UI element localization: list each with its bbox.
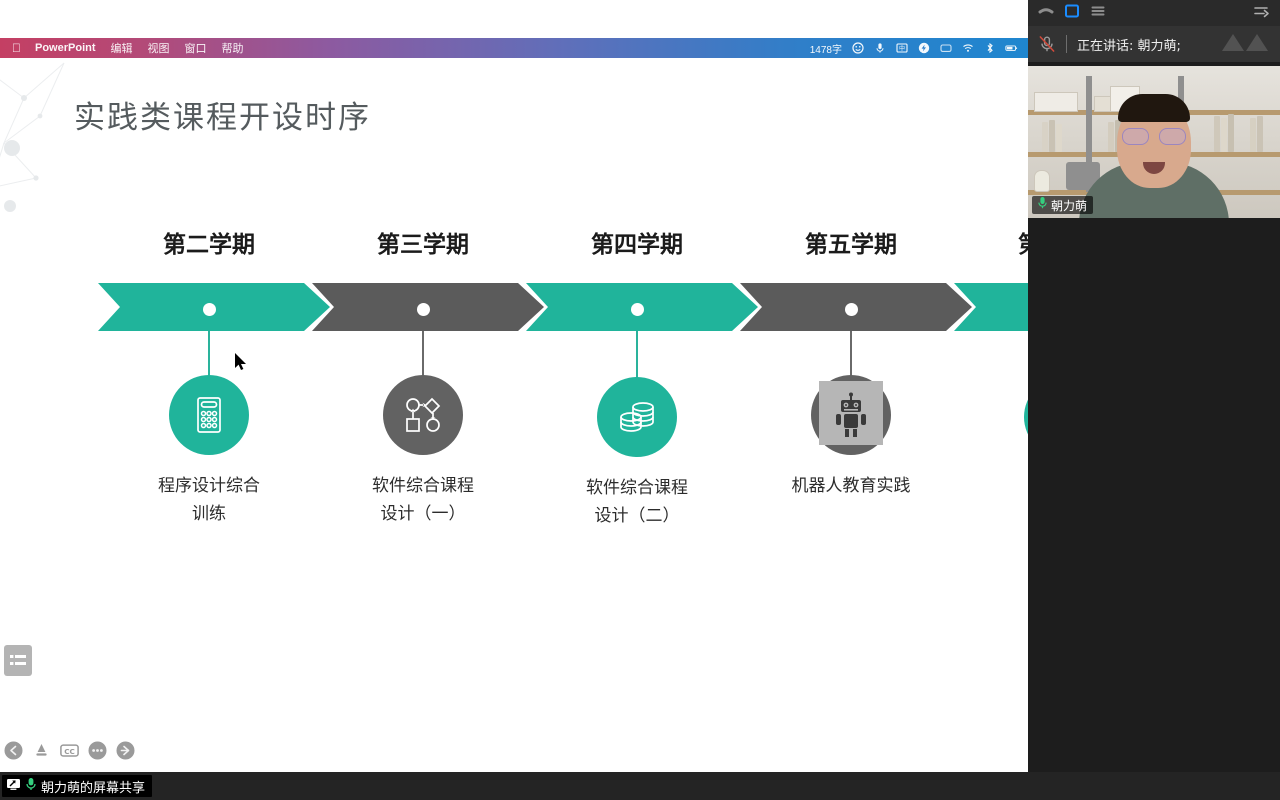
timeline-chevron-band bbox=[98, 283, 1028, 331]
smiley-icon[interactable] bbox=[851, 42, 864, 55]
screen-share-icon bbox=[6, 777, 21, 796]
screen-share-icon[interactable] bbox=[939, 42, 952, 55]
milestone-dot-3 bbox=[631, 303, 644, 316]
timeline-node-4: 机器人教育实践 bbox=[751, 375, 951, 501]
timeline-node-2: 软件综合课程 设计（一） bbox=[323, 375, 523, 528]
maximize-icon[interactable] bbox=[1064, 4, 1080, 23]
menu-app-name[interactable]: PowerPoint bbox=[35, 42, 96, 54]
semester-label-5: 第五学期 bbox=[751, 225, 951, 259]
icon-circle-3 bbox=[597, 377, 677, 457]
bluetooth-icon[interactable] bbox=[983, 42, 996, 55]
video-window-bar bbox=[1028, 0, 1280, 26]
microphone-on-icon bbox=[26, 777, 36, 796]
microphone-on-icon bbox=[1038, 196, 1047, 214]
taskbar-item-screen-share[interactable]: 朝力萌的屏幕共享 bbox=[2, 775, 152, 797]
semester-label-4: 第四学期 bbox=[537, 225, 737, 259]
menu-icon[interactable] bbox=[1090, 4, 1106, 23]
calculator-icon bbox=[187, 393, 231, 437]
timeline-node-3: 软件综合课程 设计（二） bbox=[537, 377, 737, 530]
next-slide-button[interactable] bbox=[116, 741, 135, 760]
window-controls bbox=[1038, 4, 1106, 23]
svg-text:中: 中 bbox=[898, 44, 904, 52]
semester-label-3: 第三学期 bbox=[323, 225, 523, 259]
screen:  PowerPoint 编辑 视图 窗口 帮助 1478字 中 bbox=[0, 0, 1280, 800]
timeline-semester-labels: 第二学期 第三学期 第四学期 第五学期 第六学期 bbox=[0, 225, 1028, 273]
semester-label-6: 第六学期 bbox=[964, 225, 1028, 259]
icon-circle-4 bbox=[811, 375, 891, 455]
course-label-1: 程序设计综合 训练 bbox=[109, 473, 309, 528]
icon-circle-1 bbox=[169, 375, 249, 455]
milestone-dot-4 bbox=[845, 303, 858, 316]
captions-button[interactable]: CC bbox=[60, 741, 79, 760]
participant-name-badge: 朝力萌 bbox=[1032, 196, 1093, 214]
timeline-node-5: 教育实习 bbox=[964, 377, 1028, 503]
shared-screen-slide-area:  PowerPoint 编辑 视图 窗口 帮助 1478字 中 bbox=[0, 0, 1028, 772]
pen-tools-button[interactable] bbox=[32, 741, 51, 760]
course-label-2: 软件综合课程 设计（一） bbox=[323, 473, 523, 528]
active-speaker-label: 正在讲话: 朝力萌; bbox=[1077, 35, 1181, 54]
previous-slide-button[interactable] bbox=[4, 741, 23, 760]
icon-circle-2 bbox=[383, 375, 463, 455]
apple-icon[interactable]:  bbox=[12, 42, 21, 54]
course-label-3: 软件综合课程 设计（二） bbox=[537, 475, 737, 530]
menu-item-window[interactable]: 窗口 bbox=[185, 40, 207, 56]
video-conference-panel: 正在讲话: 朝力萌; bbox=[1028, 0, 1280, 800]
participant-name: 朝力萌 bbox=[1051, 197, 1087, 214]
page-title: 实践类课程开设时序 bbox=[74, 92, 371, 137]
chevron-segment-5 bbox=[954, 283, 1028, 331]
battery-icon[interactable] bbox=[1005, 42, 1018, 55]
taskbar-share-label: 朝力萌的屏幕共享 bbox=[41, 777, 145, 796]
wifi-icon[interactable] bbox=[961, 42, 974, 55]
microphone-off-icon[interactable] bbox=[1038, 35, 1056, 53]
word-count-status: 1478字 bbox=[810, 41, 842, 56]
taskbar: 朝力萌的屏幕共享 bbox=[0, 772, 1280, 800]
menu-item-edit[interactable]: 编辑 bbox=[111, 40, 133, 56]
menu-item-help[interactable]: 帮助 bbox=[222, 40, 244, 56]
active-speaker-bar: 正在讲话: 朝力萌; bbox=[1028, 26, 1280, 62]
more-options-button[interactable] bbox=[88, 741, 107, 760]
menu-status-area: 1478字 中 bbox=[810, 41, 1018, 56]
mouse-cursor bbox=[234, 353, 248, 371]
mac-menu-bar:  PowerPoint 编辑 视图 窗口 帮助 1478字 中 bbox=[0, 38, 1028, 58]
semester-label-2: 第二学期 bbox=[109, 225, 309, 259]
svg-text:CC: CC bbox=[64, 746, 75, 755]
input-source-icon[interactable]: 中 bbox=[895, 42, 908, 55]
timeline: 第二学期 第三学期 第四学期 第五学期 第六学期 bbox=[0, 225, 1028, 555]
menu-item-view[interactable]: 视图 bbox=[148, 40, 170, 56]
flowchart-icon bbox=[400, 392, 446, 438]
microphone-icon[interactable] bbox=[873, 42, 886, 55]
timeline-node-1: 程序设计综合 训练 bbox=[109, 375, 309, 528]
slideshow-controls: CC bbox=[2, 738, 120, 762]
course-label-4: 机器人教育实践 bbox=[751, 473, 951, 501]
milestone-dot-1 bbox=[203, 303, 216, 316]
list-icon bbox=[10, 654, 26, 667]
expand-right-icon[interactable] bbox=[1254, 4, 1270, 23]
thumbnail-pane-toggle-button[interactable] bbox=[4, 645, 32, 676]
course-label-5: 教育实习 bbox=[964, 475, 1028, 503]
decorative-network-graphic bbox=[0, 58, 114, 218]
minimize-icon[interactable] bbox=[1038, 4, 1054, 23]
robot-icon bbox=[831, 392, 871, 438]
zoom-logo-icon bbox=[1220, 29, 1272, 60]
battery-bolt-icon[interactable] bbox=[917, 42, 930, 55]
participant-video-tile[interactable]: 朝力萌 bbox=[1028, 66, 1280, 218]
database-icon bbox=[614, 394, 660, 440]
milestone-dot-2 bbox=[417, 303, 430, 316]
divider bbox=[1066, 35, 1067, 53]
